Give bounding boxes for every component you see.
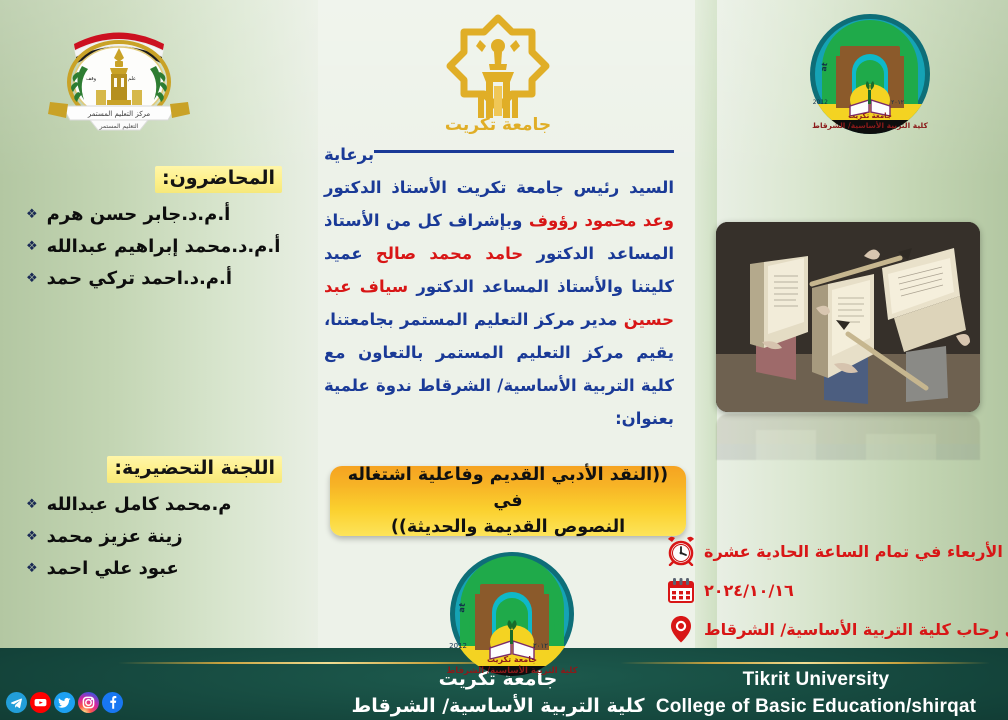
svg-text:٢٠١٢: ٢٠١٢ <box>891 99 904 106</box>
event-location-row: في رحاب كلية التربية الأساسية/ الشرقاط <box>666 614 996 644</box>
gold-divider-right <box>620 662 990 664</box>
illustration-reflection <box>716 414 980 460</box>
seminar-title: ((النقد الأدبي القديم وفاعلية اشتغاله في… <box>342 462 674 540</box>
svg-text:التعليم المستمر: التعليم المستمر <box>99 123 139 130</box>
footer-english-line-2: College of Basic Education/shirqat <box>656 696 976 717</box>
committee-member-name: عبود علي احمد <box>47 558 179 579</box>
svg-text:جامعة تكريت: جامعة تكريت <box>848 112 892 120</box>
speaker-item: ❖ أ.م.د.محمد إبراهيم عبدالله <box>26 236 286 257</box>
svg-text:كلية التربية الأساسية/ الشرقاط: كلية التربية الأساسية/ الشرقاط <box>446 665 577 676</box>
svg-text:علم: علم <box>128 76 136 82</box>
svg-text:جامعة تكريت: جامعة تكريت <box>487 655 537 664</box>
svg-text:2012: 2012 <box>813 99 828 106</box>
speakers-heading: المحاضرون: <box>155 166 282 193</box>
telegram-icon[interactable] <box>6 692 27 713</box>
patronage-text-run: مدير مركز التعليم المستمر بجامعتنا، يقيم… <box>324 310 674 428</box>
book-headed-figures-illustration <box>716 222 980 412</box>
alarm-clock-icon <box>666 536 696 566</box>
twitter-icon[interactable] <box>54 692 75 713</box>
kashida-stretch-rule <box>374 150 674 153</box>
patronage-paragraph: برعاية السيد رئيس جامعة تكريت الأستاذ ال… <box>324 138 674 435</box>
preparatory-committee-section: اللجنة التحضيرية: ❖ م.محمد كامل عبدالله … <box>26 456 286 579</box>
social-media-links[interactable] <box>6 692 123 713</box>
patronage-paragraph-text: السيد رئيس جامعة تكريت الأستاذ الدكتور و… <box>324 171 674 435</box>
diamond-bullet-icon: ❖ <box>26 562 38 575</box>
speaker-item: ❖ أ.م.د.احمد تركي حمد <box>26 268 286 289</box>
diamond-bullet-icon: ❖ <box>26 208 38 221</box>
calendar-icon <box>666 575 696 605</box>
footer-english-text: Tikrit University College of Basic Educa… <box>636 666 996 720</box>
seminar-title-banner: ((النقد الأدبي القديم وفاعلية اشتغاله في… <box>330 466 686 536</box>
svg-text:2012: 2012 <box>449 642 467 650</box>
seminar-poster: وقف علم مركز التعليم المستمر التعليم الم… <box>0 0 1008 720</box>
committee-member-name: م.محمد كامل عبدالله <box>47 494 232 515</box>
continuing-education-center-logo: وقف علم مركز التعليم المستمر التعليم الم… <box>44 14 194 134</box>
speaker-name: أ.م.د.احمد تركي حمد <box>47 268 232 289</box>
diamond-bullet-icon: ❖ <box>26 530 38 543</box>
committee-member-item: ❖ عبود علي احمد <box>26 558 286 579</box>
footer-english-line-1: Tikrit University <box>743 669 890 690</box>
college-of-basic-education-logo: Tikrit University College of Basic Educa… <box>806 12 934 136</box>
svg-text:وقف: وقف <box>86 76 97 82</box>
committee-heading: اللجنة التحضيرية: <box>107 456 282 483</box>
speaker-name: أ.م.د.جابر حسن هرم <box>47 204 231 225</box>
event-time-text: يوم الأربعاء في تمام الساعة الحادية عشرة <box>704 542 1008 561</box>
committee-member-item: ❖ م.محمد كامل عبدالله <box>26 494 286 515</box>
seminar-title-line-2: النصوص القديمة والحديثة)) <box>391 517 625 537</box>
speaker-item: ❖ أ.م.د.جابر حسن هرم <box>26 204 286 225</box>
patronage-text-run: السيد رئيس جامعة تكريت الأستاذ الدكتور <box>324 178 674 197</box>
diamond-bullet-icon: ❖ <box>26 240 38 253</box>
event-date-row: ٢٠٢٤/١٠/١٦ <box>666 575 996 605</box>
college-of-basic-education-logo: Tikrit University College of Basic Educa… <box>442 552 582 682</box>
committee-member-item: ❖ زينة عزيز محمد <box>26 526 286 547</box>
diamond-bullet-icon: ❖ <box>26 498 38 511</box>
tikrit-university-logo: جامعة تكريت <box>432 2 564 134</box>
committee-member-name: زينة عزيز محمد <box>47 526 183 547</box>
svg-text:مركز التعليم المستمر: مركز التعليم المستمر <box>87 110 151 118</box>
patronage-word: برعاية <box>324 138 374 171</box>
speaker-name: أ.م.د.محمد إبراهيم عبدالله <box>47 236 281 257</box>
seminar-title-line-1: ((النقد الأدبي القديم وفاعلية اشتغاله في <box>348 465 668 511</box>
patronage-name-emphasis: حامد محمد صالح <box>376 244 523 263</box>
svg-text:٢٠١٢: ٢٠١٢ <box>533 642 548 650</box>
tikrit-university-logo-caption: جامعة تكريت <box>445 115 551 134</box>
footer-arabic-line-2: كلية التربية الأساسية/ الشرقاط <box>351 695 644 717</box>
event-time-row: يوم الأربعاء في تمام الساعة الحادية عشرة <box>666 536 996 566</box>
instagram-icon[interactable] <box>78 692 99 713</box>
youtube-icon[interactable] <box>30 692 51 713</box>
event-date-text: ٢٠٢٤/١٠/١٦ <box>704 581 794 600</box>
patronage-first-line: برعاية <box>324 138 674 171</box>
location-pin-icon <box>666 614 696 644</box>
event-location-text: في رحاب كلية التربية الأساسية/ الشرقاط <box>704 620 1008 639</box>
patronage-name-emphasis: وعد محمود رؤوف <box>529 211 674 230</box>
svg-text:كلية التربية الأساسية/ الشرقاط: كلية التربية الأساسية/ الشرقاط <box>812 121 928 130</box>
speakers-section: المحاضرون: ❖ أ.م.د.جابر حسن هرم ❖ أ.م.د.… <box>26 166 286 289</box>
illustration-container <box>716 222 980 412</box>
event-details: يوم الأربعاء في تمام الساعة الحادية عشرة <box>666 536 996 653</box>
diamond-bullet-icon: ❖ <box>26 272 38 285</box>
facebook-icon[interactable] <box>102 692 123 713</box>
